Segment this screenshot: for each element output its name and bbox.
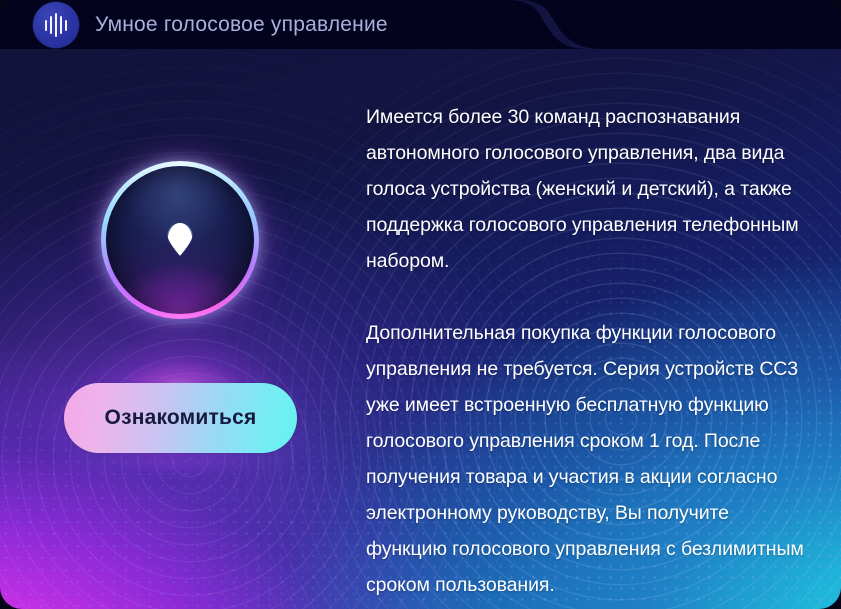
page-title: Умное голосовое управление — [95, 13, 388, 37]
description-text-column: Имеется более 30 команд распознавания ав… — [366, 99, 806, 603]
voice-control-promo-card: Умное голосовое управление Ознакомиться … — [0, 0, 841, 609]
orb-inner-disc — [106, 166, 254, 314]
learn-more-button[interactable]: Ознакомиться — [64, 383, 297, 453]
paragraph-1: Имеется более 30 команд распознавания ав… — [366, 99, 806, 279]
header-content: Умное голосовое управление — [0, 0, 560, 50]
voice-wave-icon — [33, 2, 79, 48]
location-pin-icon — [168, 223, 193, 256]
paragraph-2: Дополнительная покупка функции голосовог… — [366, 315, 806, 603]
voice-assistant-orb[interactable] — [101, 161, 259, 319]
